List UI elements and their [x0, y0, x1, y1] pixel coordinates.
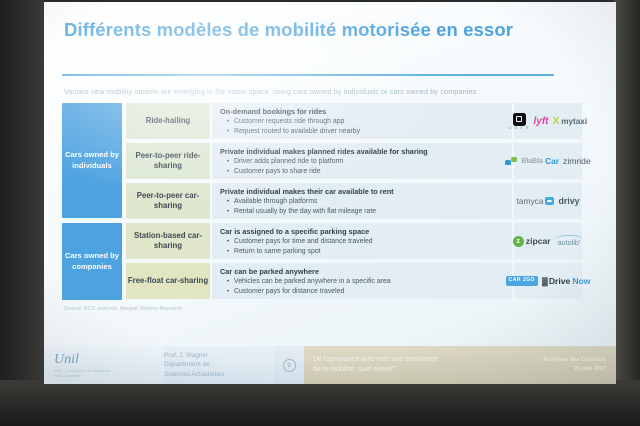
mytaxi-logo-label: mytaxi [561, 117, 587, 126]
drivenow-logo: ▓ Drive Now [542, 276, 590, 286]
car2go-logo-label: CAR 2GO [506, 276, 538, 285]
description-bullet: Customer pays for time and distance trav… [234, 237, 512, 247]
topic-line-2: de la mobilité: quel avenir? [313, 365, 498, 375]
drivenow-logo-suffix: Now [572, 276, 590, 286]
model-description: Private individual makes planned rides a… [212, 143, 512, 179]
model-name: Ride-hailing [126, 103, 210, 139]
description-bullet: Rental usually by the day with flat mile… [234, 207, 512, 217]
drivy-logo: drivy [558, 196, 579, 206]
event-block: 8e Forum des Courtiers 21 juin 2017 [498, 346, 616, 384]
brand-logo-group: CAR 2GO ▓ Drive Now [514, 263, 582, 299]
description-heading: Private individual makes planned rides a… [220, 147, 512, 156]
group-label-individuals: Cars owned by individuals [62, 103, 122, 218]
brand-logo-group: BlaBla Car zimride [514, 143, 582, 179]
table-row: Free-float car-sharing Car can be parked… [126, 263, 582, 299]
page-number: 9 [283, 359, 296, 372]
unil-wordmark: Unil [54, 353, 164, 367]
model-name: Free-float car-sharing [126, 263, 210, 299]
department-line-1: Département de [164, 360, 274, 369]
department-line-2: Sciences Actuarielles [164, 370, 274, 379]
description-bullet: Request routed to available driver nearb… [234, 127, 512, 137]
source-note: Source: BCG analysis; Morgan Stanley Res… [64, 306, 183, 312]
slide: Différents modèles de mobilité motorisée… [44, 2, 616, 384]
lyft-logo-label: lyft [534, 116, 549, 127]
presenter-block: Prof. J. Wagner Département de Sciences … [164, 346, 274, 384]
slide-subtitle: Various new mobility models are emerging… [64, 87, 584, 96]
model-description: Car can be parked anywhere Vehicles can … [212, 263, 512, 299]
description-heading: On-demand bookings for rides [220, 107, 512, 116]
event-name: 8e Forum des Courtiers [543, 356, 606, 365]
lyft-logo: lyft [534, 116, 549, 127]
brand-logo-group: U B E R lyft X mytaxi [514, 103, 582, 139]
description-bullet: Customer requests ride through app [234, 117, 512, 127]
uber-logo: U B E R [509, 113, 530, 130]
zimride-logo-label: zimride [563, 156, 591, 166]
university-logo: Unil UNIL | Université de Lausanne HEC L… [44, 346, 164, 384]
uber-logo-label: U B E R [509, 126, 530, 130]
university-name: UNIL | Université de Lausanne [54, 369, 164, 373]
zipcar-icon: z [513, 236, 524, 247]
model-name: Peer-to-peer ride-sharing [126, 143, 210, 179]
group-label-companies: Cars owned by companies [62, 223, 122, 300]
faculty-name: HEC Lausanne [54, 374, 164, 378]
description-heading: Car can be parked anywhere [220, 267, 512, 276]
table-row: Ride-hailing On-demand bookings for ride… [126, 103, 582, 139]
presenter-name: Prof. J. Wagner [164, 351, 274, 360]
model-name: Station-based car-sharing [126, 223, 210, 259]
table-row: Peer-to-peer ride-sharing Private indivi… [126, 143, 582, 179]
blablacar-icon [505, 157, 519, 166]
blablacar-logo: BlaBla Car [505, 156, 559, 166]
autolib-logo-label: autolib' [555, 235, 584, 247]
tamyca-logo-label: tamyca [516, 196, 543, 206]
model-name: Peer-to-peer car-sharing [126, 183, 210, 219]
uber-icon [513, 113, 526, 126]
description-bullet: Customer pays for distance traveled [234, 287, 512, 297]
description-bullet: Vehicles can be parked anywhere in a spe… [234, 277, 512, 287]
zimride-logo: zimride [563, 156, 591, 166]
car2go-logo: CAR 2GO [506, 276, 538, 285]
drivenow-icon: ▓ [542, 277, 547, 286]
wall-bottom [0, 380, 640, 426]
drivy-logo-label: drivy [558, 196, 579, 206]
tamyca-car-icon [545, 197, 554, 205]
event-date: 21 juin 2017 [574, 365, 606, 374]
table-row: Station-based car-sharing Car is assigne… [126, 223, 582, 259]
description-bullet: Customer pays to share ride [234, 167, 512, 177]
blablacar-logo-suffix: Car [545, 156, 559, 166]
brand-logo-group: z zipcar autolib' [514, 223, 582, 259]
zipcar-logo-label: zipcar [526, 236, 551, 246]
model-description: On-demand bookings for rides Customer re… [212, 103, 512, 139]
description-bullet: Return to same parking spot [234, 247, 512, 257]
presentation-topic: De l'assurance auto vers une assurance d… [304, 346, 498, 384]
description-bullet: Driver adds planned ride to platform [234, 157, 512, 167]
description-heading: Private individual makes their car avail… [220, 187, 512, 196]
projected-slide-photo: Différents modèles de mobilité motorisée… [0, 0, 640, 426]
wall-left [0, 0, 44, 426]
mytaxi-icon: X [553, 116, 560, 127]
mytaxi-logo: X mytaxi [553, 116, 588, 127]
brand-logo-group: tamyca drivy [514, 183, 582, 219]
wall-right [614, 0, 640, 426]
description-heading: Car is assigned to a specific parking sp… [220, 227, 512, 236]
title-divider [62, 74, 554, 76]
drivenow-logo-label: Drive [549, 276, 571, 286]
slide-footer: Unil UNIL | Université de Lausanne HEC L… [44, 346, 616, 384]
blablacar-logo-label: BlaBla [521, 158, 543, 165]
autolib-logo: autolib' [555, 235, 584, 247]
model-description: Car is assigned to a specific parking sp… [212, 223, 512, 259]
tamyca-logo: tamyca [516, 196, 554, 206]
topic-line-1: De l'assurance auto vers une assurance [313, 355, 498, 365]
table-row: Peer-to-peer car-sharing Private individ… [126, 183, 582, 219]
model-description: Private individual makes their car avail… [212, 183, 512, 219]
page-number-badge: 9 [274, 346, 304, 384]
page-title: Différents modèles de mobilité motorisée… [64, 18, 544, 42]
zipcar-logo: z zipcar [513, 236, 551, 247]
description-bullet: Available through platforms [234, 197, 512, 207]
